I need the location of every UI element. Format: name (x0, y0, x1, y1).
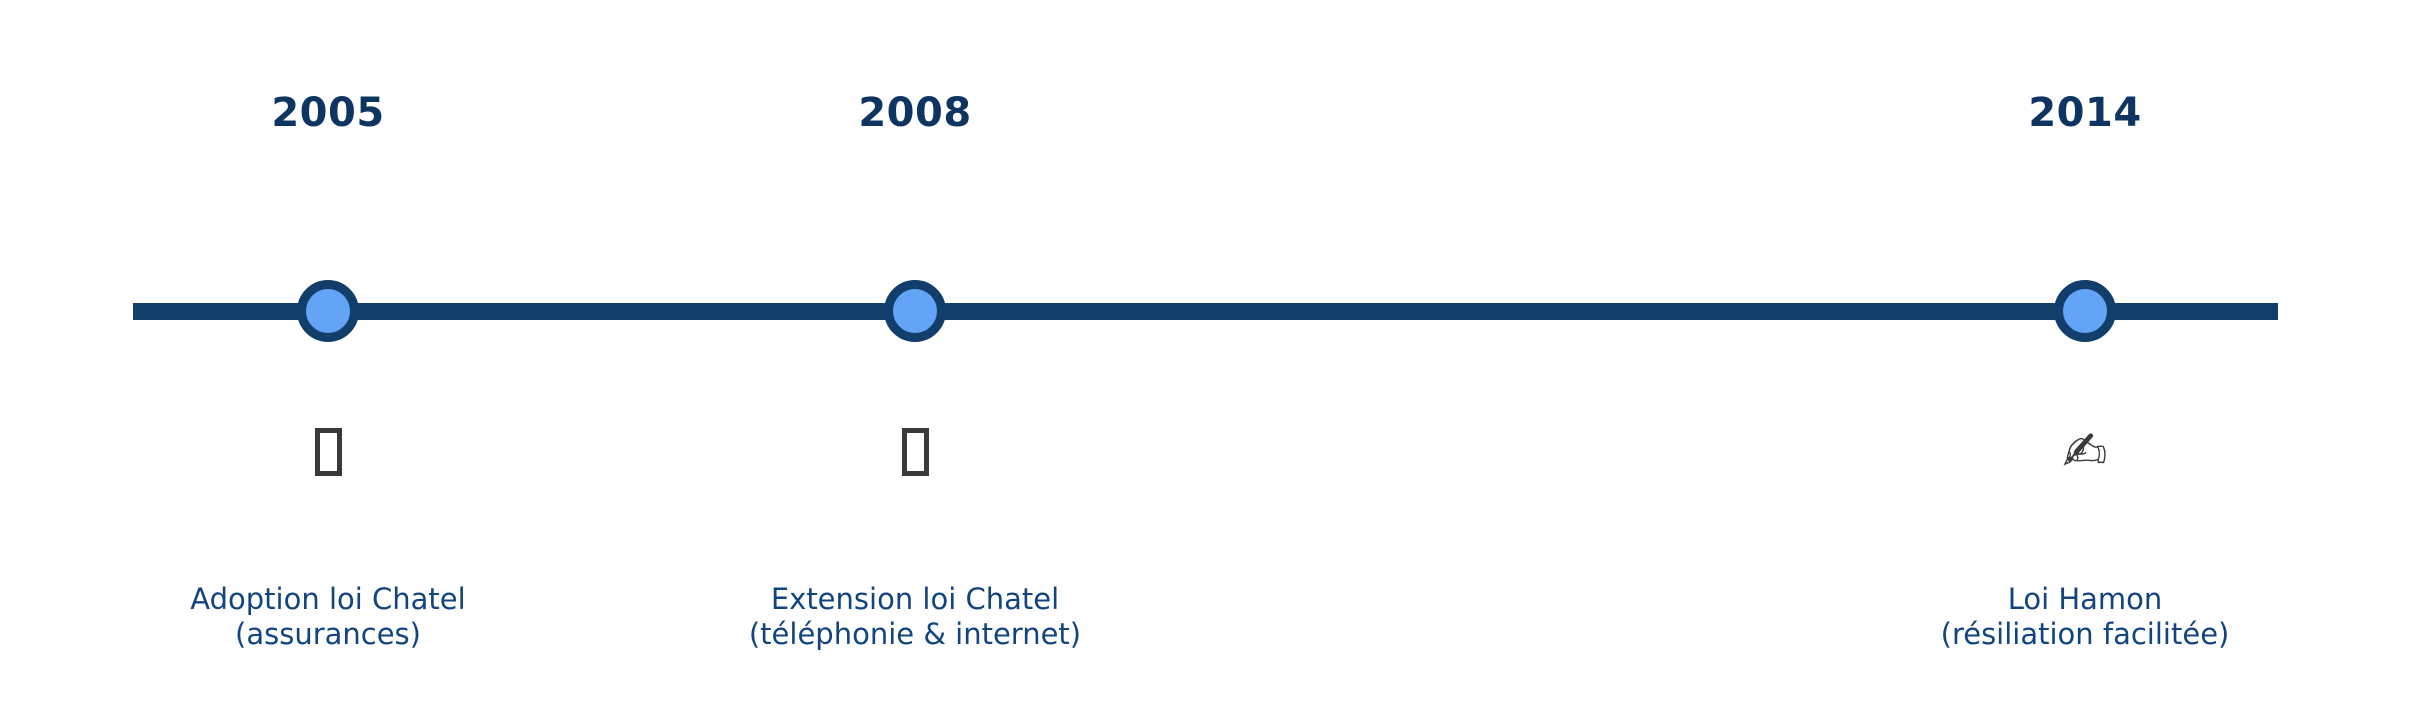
timeline-axis-line (133, 303, 2278, 320)
missing-glyph-box-icon (855, 420, 975, 484)
caption-line-1: Adoption loi Chatel (48, 582, 608, 617)
timeline-marker-2008[interactable] (884, 280, 946, 342)
caption-line-1: Loi Hamon (1805, 582, 2365, 617)
year-label-2008: 2008 (858, 93, 971, 133)
caption-2014: Loi Hamon (résiliation facilitée) (1805, 582, 2365, 652)
caption-line-1: Extension loi Chatel (635, 582, 1195, 617)
year-label-2005: 2005 (271, 93, 384, 133)
caption-line-2: (résiliation facilitée) (1805, 617, 2365, 652)
caption-2005: Adoption loi Chatel (assurances) (48, 582, 608, 652)
writing-hand-icon: ✍ (2025, 420, 2145, 484)
year-label-2014: 2014 (2028, 93, 2141, 133)
timeline-marker-2005[interactable] (297, 280, 359, 342)
timeline-figure: 2005 Adoption loi Chatel (assurances) 20… (0, 0, 2409, 707)
caption-line-2: (téléphonie & internet) (635, 617, 1195, 652)
caption-line-2: (assurances) (48, 617, 608, 652)
caption-2008: Extension loi Chatel (téléphonie & inter… (635, 582, 1195, 652)
missing-glyph-box-icon (268, 420, 388, 484)
timeline-marker-2014[interactable] (2054, 280, 2116, 342)
